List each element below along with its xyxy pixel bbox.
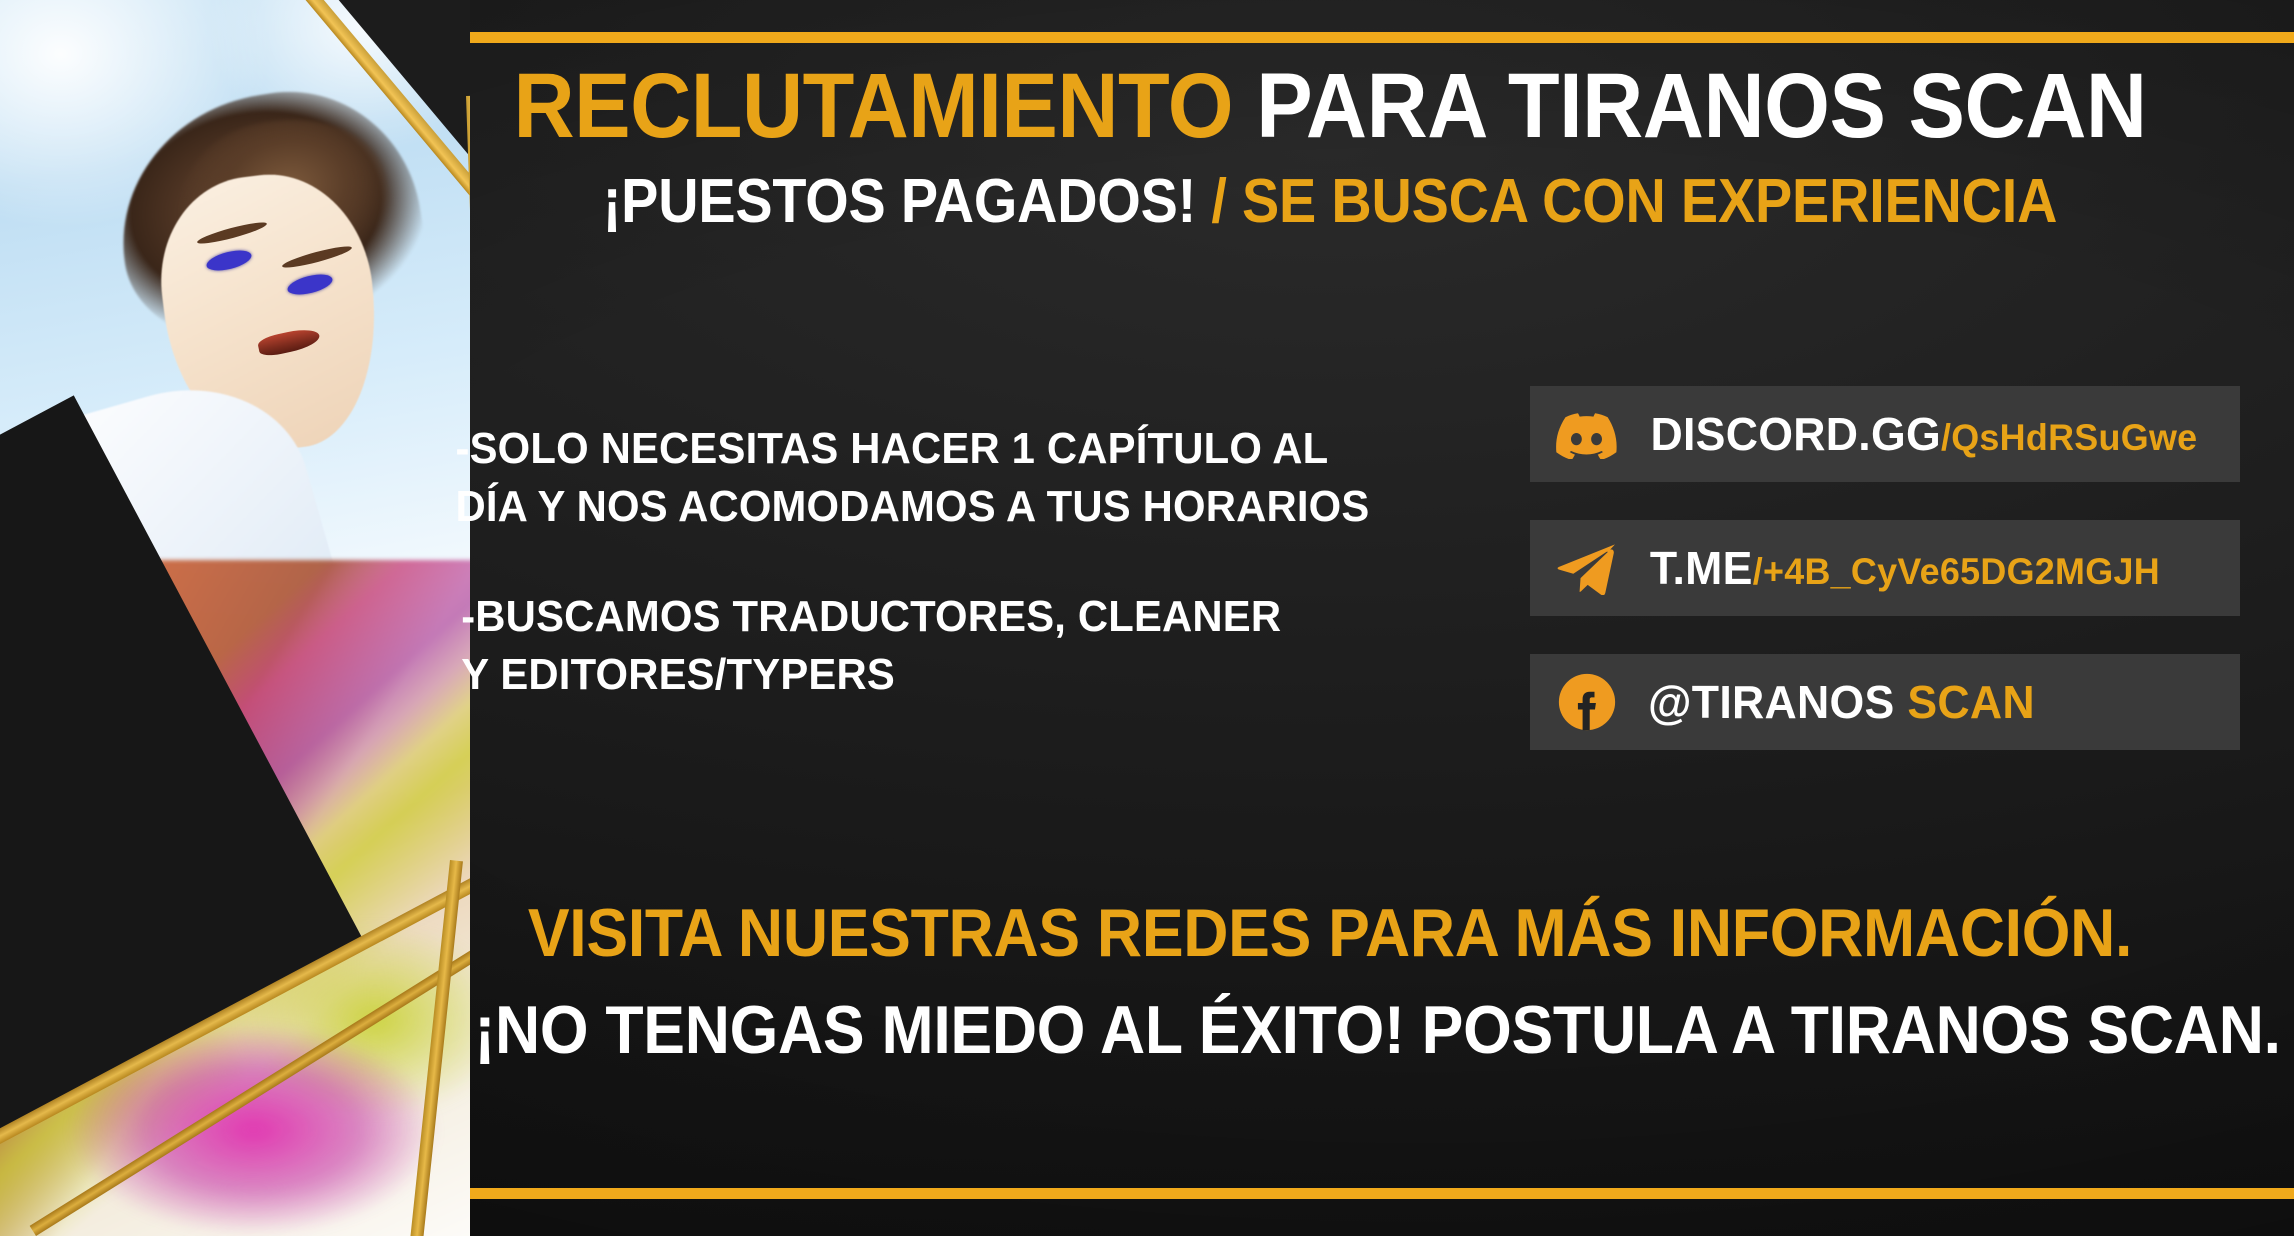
contact-facebook[interactable]: @TIRANOS SCAN <box>1530 654 2240 750</box>
facebook-handle-name: @TIRANOS <box>1648 676 1895 728</box>
facebook-text: @TIRANOS SCAN <box>1648 675 2035 729</box>
telegram-text: T.ME/+4B_CyVe65DG2MGJH <box>1650 541 2160 595</box>
facebook-icon <box>1556 671 1618 733</box>
subtitle-white-part: ¡PUESTOS PAGADOS! <box>603 167 1196 236</box>
contact-discord[interactable]: DISCORD.GG/QsHdRSuGwe <box>1530 386 2240 482</box>
headline-block: RECLUTAMIENTO PARA TIRANOS SCAN ¡PUESTOS… <box>400 60 2260 233</box>
gold-rule-top <box>336 32 2294 43</box>
telegram-handle: /+4B_CyVe65DG2MGJH <box>1753 551 2160 592</box>
discord-text: DISCORD.GG/QsHdRSuGwe <box>1650 407 2197 461</box>
telegram-icon <box>1556 537 1618 599</box>
telegram-domain: T.ME <box>1650 542 1753 594</box>
bullet-1-line-2: DÍA Y NOS ACOMODAMOS A TUS HORARIOS <box>456 478 1045 536</box>
contact-telegram[interactable]: T.ME/+4B_CyVe65DG2MGJH <box>1530 520 2240 616</box>
recruitment-banner: RECLUTAMIENTO PARA TIRANOS SCAN ¡PUESTOS… <box>0 0 2294 1236</box>
discord-handle: /QsHdRSuGwe <box>1941 417 2197 458</box>
contact-list: DISCORD.GG/QsHdRSuGwe T.ME/+4B_CyVe65DG2… <box>1530 386 2240 788</box>
title-white-part: PARA TIRANOS SCAN <box>1256 55 2146 157</box>
bullet-item-1: -SOLO NECESITAS HACER 1 CAPÍTULO AL DÍA … <box>456 420 1045 536</box>
bullet-item-2: -BUSCAMOS TRADUCTORES, CLEANER Y EDITORE… <box>456 588 1045 704</box>
discord-domain: DISCORD.GG <box>1650 408 1940 460</box>
subtitle-gold-part: / SE BUSCA CON EXPERIENCIA <box>1211 167 2057 236</box>
cta-line-2: ¡NO TENGAS MIEDO AL ÉXITO! POSTULA A TIR… <box>474 995 2185 1066</box>
call-to-action: VISITA NUESTRAS REDES PARA MÁS INFORMACI… <box>400 898 2260 1067</box>
cta-line-1: VISITA NUESTRAS REDES PARA MÁS INFORMACI… <box>474 898 2185 969</box>
bullet-2-line-1: -BUSCAMOS TRADUCTORES, CLEANER <box>456 588 1045 646</box>
discord-icon <box>1556 403 1618 465</box>
facebook-handle-suffix: SCAN <box>1907 676 2035 728</box>
bullet-list: -SOLO NECESITAS HACER 1 CAPÍTULO AL DÍA … <box>456 420 1045 704</box>
banner-subtitle: ¡PUESTOS PAGADOS! / SE BUSCA CON EXPERIE… <box>493 170 2167 233</box>
gold-rule-bottom <box>336 1188 2294 1199</box>
bullet-2-line-2: Y EDITORES/TYPERS <box>456 646 1045 704</box>
banner-title: RECLUTAMIENTO PARA TIRANOS SCAN <box>474 60 2185 154</box>
title-gold-part: RECLUTAMIENTO <box>513 55 1233 157</box>
bullet-1-line-1: -SOLO NECESITAS HACER 1 CAPÍTULO AL <box>456 420 1045 478</box>
